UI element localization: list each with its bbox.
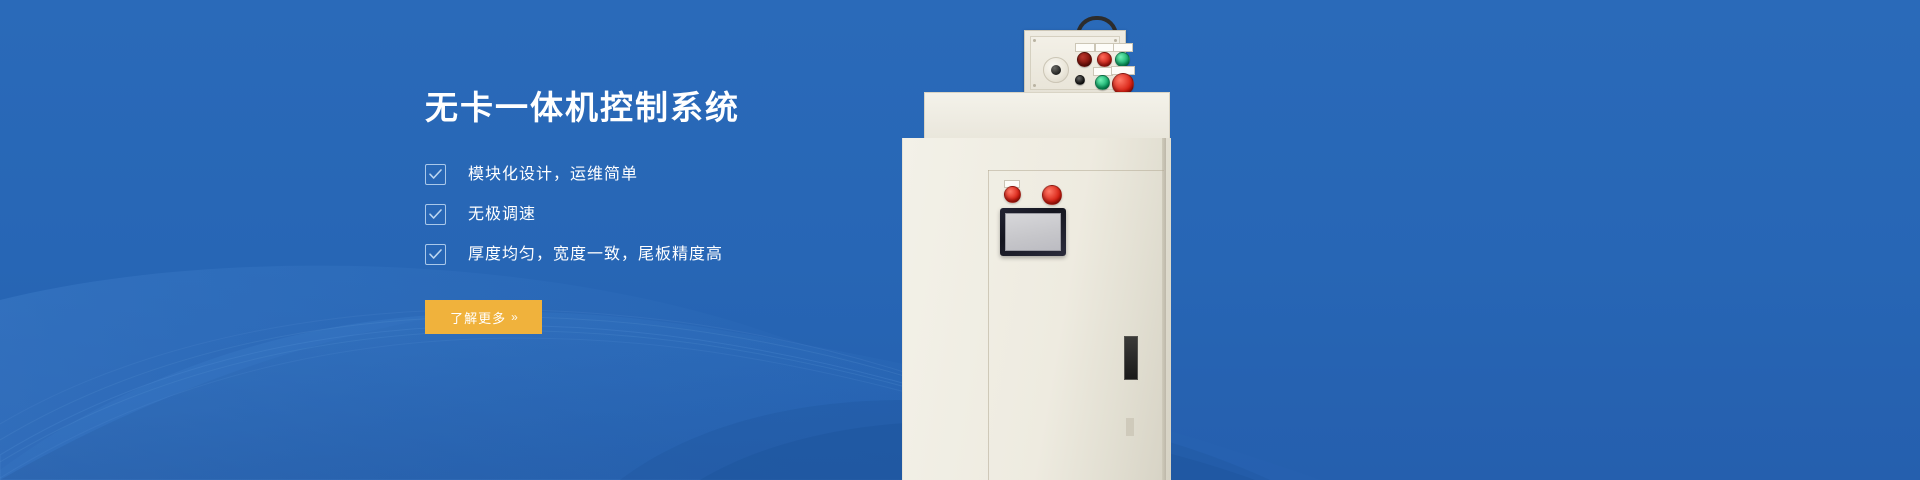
cabinet-button-red-2 <box>1042 185 1062 205</box>
panel-screw <box>1114 39 1117 42</box>
banner-content: 无卡一体机控制系统 模块化设计，运维简单 无极调速 <box>425 88 985 334</box>
learn-more-button[interactable]: 了解更多 » <box>425 300 542 334</box>
button-dark-red <box>1077 52 1092 67</box>
panel-screw <box>1033 39 1036 42</box>
cabinet-button-red-1 <box>1004 186 1021 203</box>
page-title: 无卡一体机控制系统 <box>425 88 985 128</box>
button-black-small <box>1075 75 1085 85</box>
button-green-2 <box>1095 75 1110 90</box>
chevron-right-icon: » <box>511 310 517 324</box>
button-green <box>1115 52 1130 67</box>
cabinet-door-top-edge <box>988 170 1164 171</box>
rotary-selector-knob <box>1043 57 1069 83</box>
button-tag <box>1095 43 1115 52</box>
feature-label: 厚度均匀，宽度一致，尾板精度高 <box>468 245 723 265</box>
hmi-screen-surface <box>1005 213 1061 251</box>
button-tag <box>1075 43 1095 52</box>
control-panel-face <box>1030 36 1120 90</box>
top-control-panel <box>1024 30 1126 96</box>
button-red <box>1097 52 1112 67</box>
feature-item-1: 模块化设计，运维简单 <box>425 164 985 185</box>
cabinet-vent-slot <box>1124 336 1138 380</box>
hero-banner: 无卡一体机控制系统 模块化设计，运维简单 无极调速 <box>0 0 1920 480</box>
panel-screw <box>1033 84 1036 87</box>
feature-item-2: 无极调速 <box>425 204 985 225</box>
feature-list: 模块化设计，运维简单 无极调速 厚度均匀，宽度一致，尾板精度高 <box>425 164 985 265</box>
control-cabinet-photo <box>900 0 1920 480</box>
cabinet-side-seam <box>1162 138 1166 480</box>
cabinet-door-edge <box>988 170 989 480</box>
checkbox-check-icon <box>425 204 446 225</box>
button-tag <box>1113 43 1133 52</box>
feature-label: 模块化设计，运维简单 <box>468 165 638 185</box>
learn-more-label: 了解更多 <box>450 308 506 327</box>
checkbox-check-icon <box>425 164 446 185</box>
feature-label: 无极调速 <box>468 205 536 225</box>
checkbox-check-icon <box>425 244 446 265</box>
cabinet-lower-vent <box>1126 418 1134 436</box>
hmi-touchscreen <box>1000 208 1066 256</box>
feature-item-3: 厚度均匀，宽度一致，尾板精度高 <box>425 244 985 265</box>
